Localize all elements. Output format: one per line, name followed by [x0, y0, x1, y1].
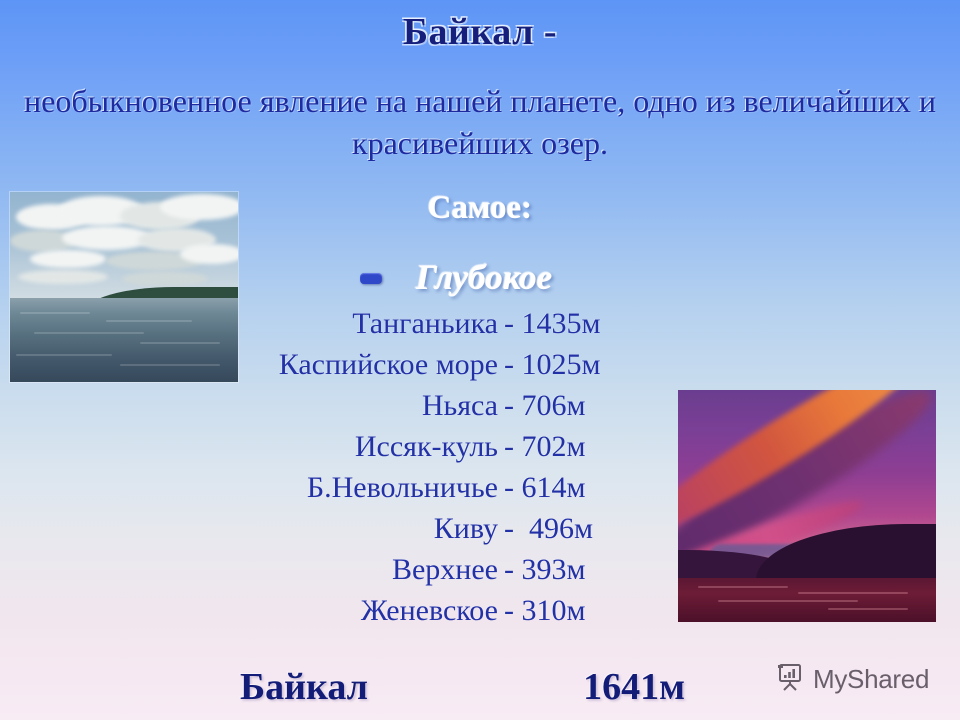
cloud-shape	[30, 250, 106, 268]
cloud-shape	[122, 272, 208, 286]
sunset-photo	[678, 390, 936, 622]
mountain-silhouette	[678, 522, 936, 580]
lake-depth: - 614м	[504, 471, 694, 505]
intro-paragraph: необыкновенное явление на нашей планете,…	[8, 80, 952, 164]
lake-depth: - 1435м	[504, 307, 694, 341]
page-title: Байкал -	[0, 10, 960, 54]
lake-depth: - 310м	[504, 594, 694, 628]
superlative-row: Глубокое	[360, 258, 720, 298]
list-item: Каспийское море - 1025м	[200, 348, 700, 389]
cloud-shape	[180, 244, 238, 264]
summary-line: Байкал 1641м	[190, 665, 710, 709]
lake-depth: - 706м	[504, 389, 694, 423]
lake-name: Иссяк-куль	[200, 430, 504, 464]
lake-depth-list: Танганьика - 1435м Каспийское море - 102…	[200, 307, 700, 635]
lake-name: Киву	[200, 512, 504, 546]
dash-bullet-icon	[360, 273, 382, 284]
lake-name: Верхнее	[200, 553, 504, 587]
wave-line	[106, 320, 192, 322]
lake-name: Женевское	[200, 594, 504, 628]
list-item: Верхнее - 393м	[200, 553, 700, 594]
lake-name: Каспийское море	[200, 348, 504, 382]
list-item: Иссяк-куль - 702м	[200, 430, 700, 471]
list-item: Ньяса - 706м	[200, 389, 700, 430]
lake-name: Ньяса	[200, 389, 504, 423]
wave-line	[16, 354, 112, 356]
lake-depth: - 496м	[504, 512, 694, 546]
lake-depth: - 1025м	[504, 348, 694, 382]
shimmer-line	[698, 586, 788, 588]
lake-depth: - 393м	[504, 553, 694, 587]
lake-name: Танганьика	[200, 307, 504, 341]
cloud-shape	[160, 194, 238, 220]
lake-name: Б.Невольничье	[200, 471, 504, 505]
wave-line	[34, 332, 144, 334]
superlative-value: Глубокое	[416, 258, 552, 298]
summary-value: 1641м	[583, 665, 710, 709]
list-item: Киву - 496м	[200, 512, 700, 553]
superlative-label: Самое:	[250, 190, 710, 227]
summary-label: Байкал	[190, 665, 368, 709]
list-item: Танганьика - 1435м	[200, 307, 700, 348]
lake-depth: - 702м	[504, 430, 694, 464]
shimmer-line	[798, 592, 908, 594]
cloud-shape	[18, 270, 108, 284]
presentation-board-icon	[775, 662, 805, 697]
myshared-watermark: MyShared	[775, 662, 929, 697]
shimmer-line	[718, 600, 858, 602]
list-item: Женевское - 310м	[200, 594, 700, 635]
watermark-text: MyShared	[813, 664, 929, 695]
wave-line	[20, 312, 90, 314]
shimmer-line	[828, 608, 908, 610]
mountain-right	[756, 524, 936, 580]
sunset-water	[678, 578, 936, 622]
list-item: Б.Невольничье - 614м	[200, 471, 700, 512]
presentation-slide: Байкал - необыкновенное явление на нашей…	[0, 0, 960, 720]
